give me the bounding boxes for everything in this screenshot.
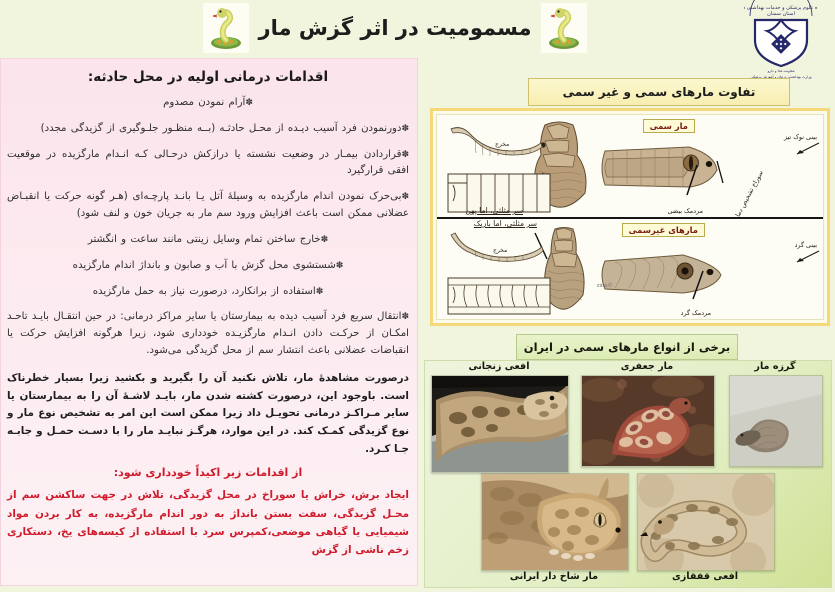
nonvenomous-tag: مارهای غیرسمی: [622, 223, 705, 237]
bullet-marker: ✽: [401, 150, 409, 160]
snake-comparison-diagram: مار سمی بینی نوک تیز مردمک بیضی: [430, 108, 830, 326]
species-caption: مار جعفری: [579, 361, 715, 372]
diagram-canvas: مار سمی بینی نوک تیز مردمک بیضی: [436, 114, 824, 320]
species-section-heading: برخی از انواع مارهای سمی در ایران: [516, 334, 738, 360]
leader-line-icon: [713, 159, 727, 185]
bullet-item: ✽خارج ساختن تمام وسایل زینتی مانند ساعت …: [7, 232, 409, 249]
species-caption: مار شاخ دار ایرانی: [479, 571, 629, 582]
species-caption: افعی قفقازی: [635, 571, 775, 582]
title-block: مسمومیت در اثر گزش مار: [180, 2, 610, 54]
viper-photo-caucasian: [637, 473, 775, 571]
bullet-text: قراردادن بیمـار در وضعیت نشسته یا درازکش…: [7, 149, 409, 177]
leader-line-icon: [691, 269, 705, 301]
species-item: مار جعفری: [579, 361, 715, 467]
bullet-marker: ✽: [316, 287, 324, 297]
page-title: مسمومیت در اثر گزش مار: [259, 16, 532, 40]
warning-paragraph: ایجاد برش، خراش یا سوراخ در محل گزیدگی، …: [7, 486, 409, 559]
bullet-item: ✽آرام نمودن مصدوم: [7, 95, 409, 112]
page-header: مسمومیت در اثر گزش مار دانشگاه علوم پزشک…: [0, 0, 835, 56]
venomous-species-gallery: گرزه مار مار جعفری: [424, 360, 832, 588]
bullet-item: ✽قراردادن بیمـار در وضعیت نشسته یا درازک…: [7, 147, 409, 181]
nonvenomous-head-illustration: ©Science Magazine: [597, 245, 731, 303]
nonvenomous-scale-pattern: [447, 277, 551, 315]
bullet-item: ✽دورنمودن فرد آسیب دیـده از محـل حادثـه …: [7, 121, 409, 138]
venomous-head-illustration: [597, 137, 727, 199]
diagram-section-heading: تفاوت مارهای سمی و غیر سمی: [528, 78, 790, 106]
viper-photo-zanjani: [431, 375, 569, 473]
bullet-marker: ✽: [336, 261, 344, 271]
emphasis-paragraph: درصورت مشاهدهٔ مار، تلاش نکنید آن را بگی…: [7, 370, 409, 458]
bullet-marker: ✽: [401, 124, 409, 134]
bullet-text: خارج ساختن تمام وسایل زینتی مانند ساعت و…: [88, 234, 321, 245]
species-item: افعی قفقازی: [635, 473, 775, 585]
label-head-narrow: سر مثلثی، اما باریک: [474, 219, 537, 228]
bullet-text: انتقال سریع فرد آسیب دیده به بیمارستان ی…: [7, 311, 409, 356]
snake-icon: [541, 3, 587, 53]
bullet-text: دورنمودن فرد آسیب دیـده از محـل حادثـه (…: [41, 123, 402, 134]
venomous-tag: مار سمی: [643, 119, 695, 133]
label-vent: مخرج: [495, 141, 509, 148]
species-item: مار شاخ دار ایرانی: [479, 473, 629, 585]
warning-heading: از اقدامات زیر اکیداً خودداری شود:: [7, 466, 409, 479]
bullet-item: ✽انتقال سریع فرد آسیب دیده به بیمارستان …: [7, 309, 409, 359]
emblem-icon: دانشگاه علوم پزشکی و خدمات بهداشتی درمان…: [744, 0, 818, 68]
label-pointed-nose: بینی نوک تیز: [784, 133, 817, 141]
bullet-text: بی‌حرک نمودن اندام مارگزیده به وسیلهٔ آت…: [7, 191, 409, 219]
university-medical-sciences-emblem: دانشگاه علوم پزشکی و خدمات بهداشتی درمان…: [733, 0, 829, 86]
bullet-text: آرام نمودن مصدوم: [163, 97, 245, 108]
bullet-item: ✽بی‌حرک نمودن اندام مارگزیده به وسیلهٔ آ…: [7, 189, 409, 223]
bullet-item: ✽استفاده از برانکارد، درصورت نیاز به حمل…: [7, 284, 409, 301]
horned-viper-photo: [481, 473, 629, 571]
first-aid-panel: اقدامات درمانی اولیه در محل حادثه: ✽آرام…: [0, 58, 418, 586]
nonvenomous-row: مارهای غیرسمی ©Science Magazine بینی گرد…: [437, 217, 823, 319]
species-caption: گرزه مار: [727, 361, 823, 372]
bullet-marker: ✽: [245, 98, 253, 108]
svg-text:استان سمنان: استان سمنان: [767, 11, 795, 17]
snake-icon: [203, 3, 249, 53]
svg-text:©Science Magazine: ©Science Magazine: [597, 282, 613, 289]
bullet-text: استفاده از برانکارد، درصورت نیاز به حمل …: [93, 286, 316, 297]
leader-line-icon: [791, 141, 821, 157]
leader-line-icon: [685, 163, 699, 197]
species-item: افعی زنجانی: [429, 361, 569, 471]
panel-heading: اقدامات درمانی اولیه در محل حادثه:: [7, 69, 409, 85]
label-head-broad: سر مثلثی، اما پهن: [465, 206, 523, 215]
label-round-nose: بینی گرد: [795, 241, 817, 249]
snake-photo-jafari: [581, 375, 715, 467]
label-elliptical-pupil: مردمک بیضی: [667, 207, 703, 215]
species-item: گرزه مار: [727, 361, 823, 467]
species-caption: افعی زنجانی: [429, 361, 569, 372]
logo-caption: معاونت غذا و دارو: [768, 69, 795, 74]
bullet-item: ✽شستشوی محل گزش با آب و صابون و بانداژ ا…: [7, 258, 409, 275]
bullet-marker: ✽: [401, 192, 409, 202]
bullet-text: شستشوی محل گزش با آب و صابون و بانداژ ان…: [73, 260, 336, 271]
bullet-marker: ✽: [321, 235, 329, 245]
snake-photo-gorzeh: [729, 375, 823, 467]
label-vent: مخرج: [493, 247, 507, 254]
svg-text:دانشگاه علوم پزشکی و خدمات بهد: دانشگاه علوم پزشکی و خدمات بهداشتی درمان…: [744, 4, 818, 11]
label-heat-sensing-pit: سوراخ تشخیص دما: [733, 169, 764, 218]
leader-line-icon: [791, 249, 821, 265]
venomous-row: مار سمی بینی نوک تیز مردمک بیضی: [437, 115, 823, 219]
bullet-marker: ✽: [401, 312, 409, 322]
label-round-pupil: مردمک گرد: [681, 309, 711, 317]
